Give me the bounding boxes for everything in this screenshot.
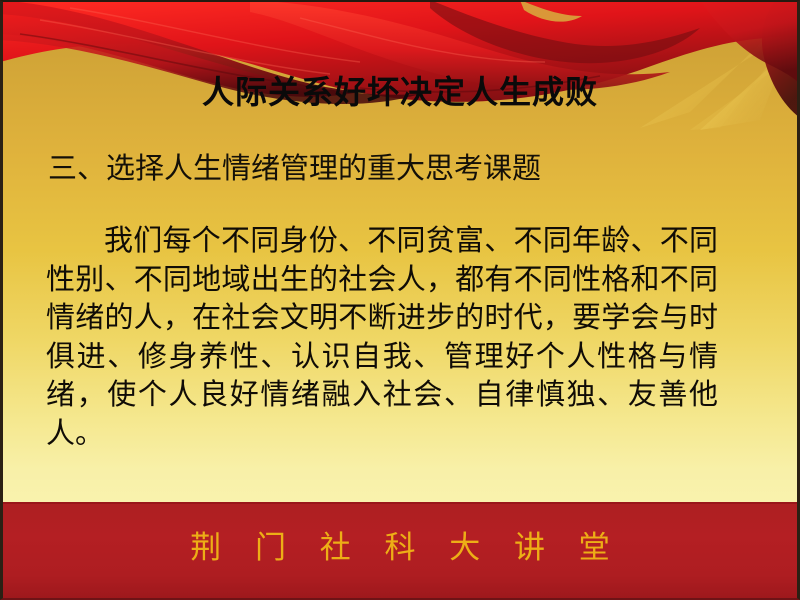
section-subtitle: 三、选择人生情绪管理的重大思考课题: [48, 150, 748, 188]
footer-banner-text: 荆 门 社 科 大 讲 堂: [0, 528, 800, 568]
presentation-slide: 人际关系好坏决定人生成败 三、选择人生情绪管理的重大思考课题 我们每个不同身份、…: [0, 0, 800, 600]
body-paragraph: 我们每个不同身份、不同贫富、不同年龄、不同性别、不同地域出生的社会人，都有不同性…: [46, 222, 718, 453]
slide-title: 人际关系好坏决定人生成败: [0, 72, 800, 112]
footer-banner: 荆 门 社 科 大 讲 堂: [0, 502, 800, 600]
